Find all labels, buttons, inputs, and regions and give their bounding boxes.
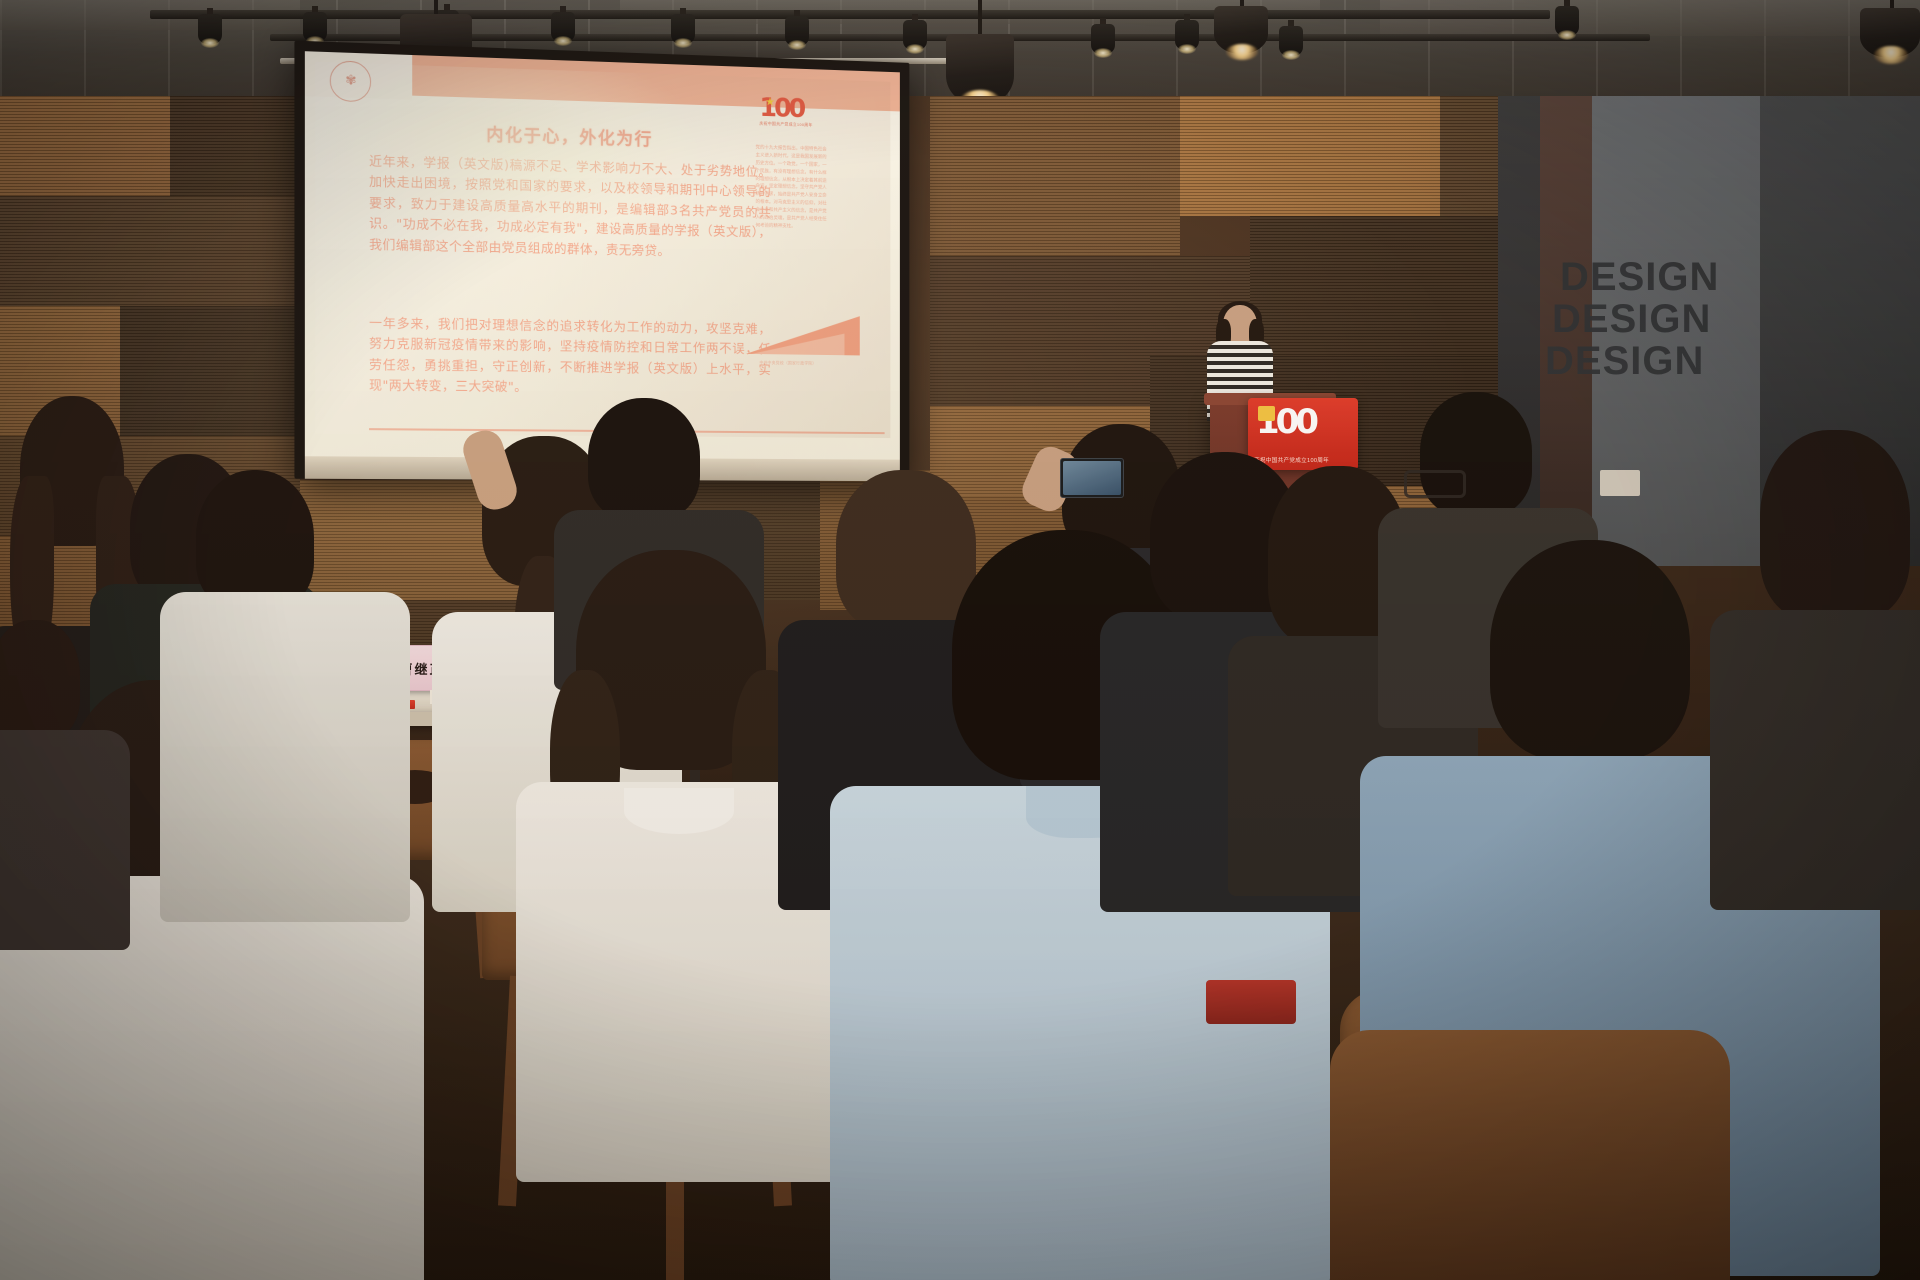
spotlight-icon (548, 6, 578, 52)
spotlight-icon (782, 10, 812, 56)
slide-paragraph-1: 近年来，学报（英文版)稿源不足、学术影响力不大、处于劣势地位。加快走出困境，按照… (369, 151, 771, 263)
red-chair[interactable] (1206, 980, 1296, 1024)
banner-caption: 庆祝中国共产党成立100周年 (1254, 456, 1354, 464)
university-emblem-icon: ✾ (330, 60, 371, 102)
slide-decoration-wave (746, 302, 862, 355)
star-icon: ★ (765, 95, 775, 108)
spotlight-icon (668, 8, 698, 54)
wall-switch-plate[interactable] (1600, 470, 1640, 496)
smartphone[interactable] (1060, 458, 1124, 498)
chair-back-foreground[interactable] (1330, 1030, 1730, 1280)
spotlight-icon (1552, 0, 1582, 46)
party-flag-icon (1258, 406, 1275, 421)
slide-sidebar-footer: 中共中央党校（国家行政学院） (759, 360, 816, 367)
slide-sidebar-text: 党的十九大报告指出，中国特色社会主义进入新时代，这是我国发展新的历史方位。一个政… (756, 144, 831, 232)
design-wall-text: DESIGN (1560, 258, 1719, 296)
spotlight-icon (195, 8, 225, 54)
spotlight-icon (1172, 14, 1202, 60)
anniversary-logo-icon: 100 ★ 庆祝中国共产党成立100周年 (759, 89, 819, 134)
spotlight-icon (900, 14, 930, 60)
eyeglasses-icon (1404, 470, 1466, 498)
screenshot-root: DESIGN DESIGN DESIGN ✾ 内化于心，外化为行 近年来，学报（… (0, 0, 1920, 1280)
spotlight-icon (1088, 18, 1118, 64)
anniversary-banner: 100 庆祝中国共产党成立100周年 (1248, 398, 1358, 470)
lighting-track (150, 10, 1550, 19)
anniversary-caption: 庆祝中国共产党成立100周年 (759, 121, 812, 129)
spotlight-icon (1276, 20, 1306, 66)
design-wall-text: DESIGN (1552, 300, 1711, 338)
slide-paragraph-2: 一年多来，我们把对理想信念的追求转化为工作的动力，攻坚克难，努力克服新冠疫情带来… (369, 313, 771, 400)
design-wall-text: DESIGN (1545, 342, 1704, 380)
projected-slide: ✾ 内化于心，外化为行 近年来，学报（英文版)稿源不足、学术影响力不大、处于劣势… (305, 51, 900, 459)
collar-ruffle (624, 788, 734, 834)
